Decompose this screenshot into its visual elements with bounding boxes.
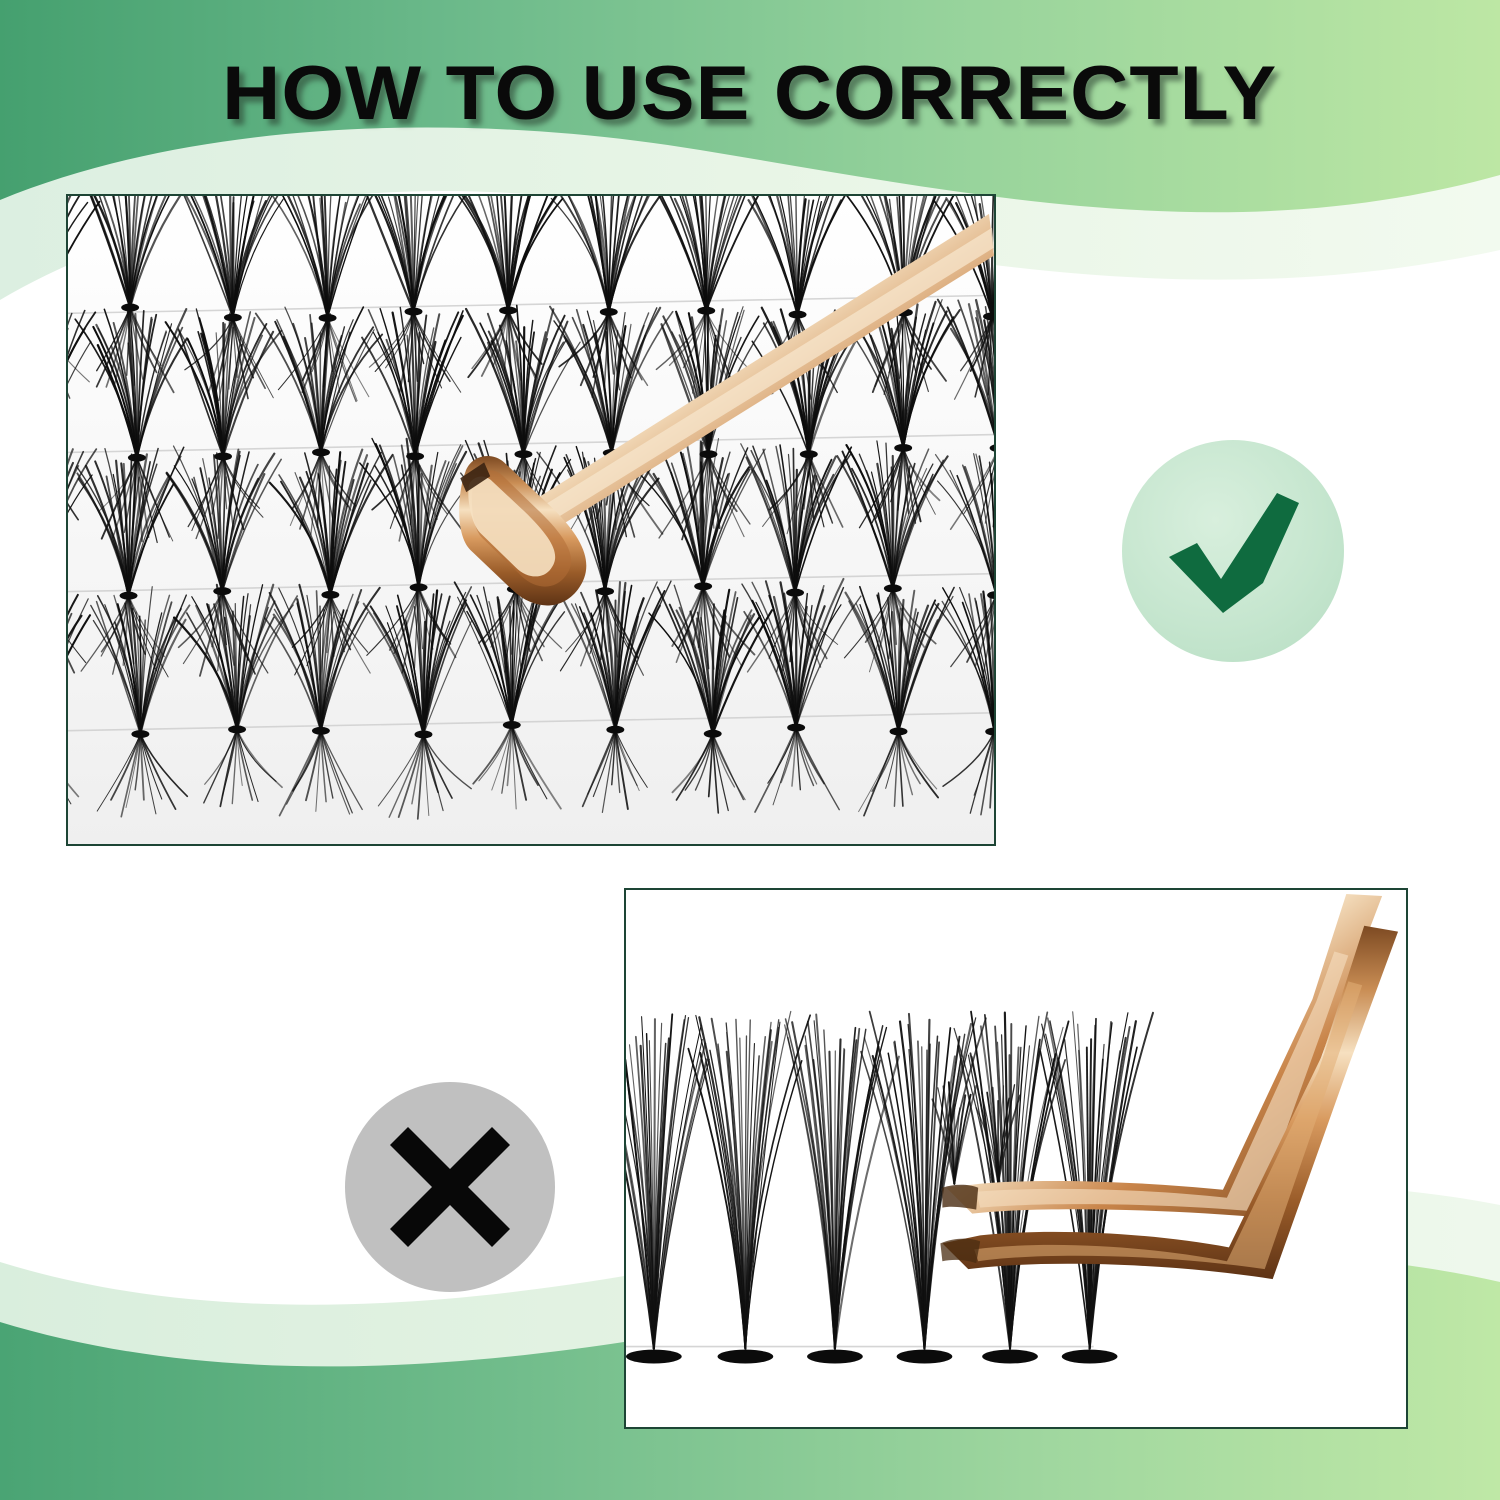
badge-incorrect — [345, 1082, 555, 1292]
lash-cluster-side-view-illustration — [626, 890, 1406, 1427]
photo-correct-method — [66, 194, 996, 846]
lash-tray-top-view-illustration — [68, 196, 994, 844]
photo-incorrect-method — [624, 888, 1408, 1429]
page-title: HOW TO USE CORRECTLY — [222, 52, 1277, 136]
title-container: HOW TO USE CORRECTLY — [0, 52, 1500, 136]
cross-icon — [382, 1119, 518, 1255]
check-icon — [1153, 471, 1313, 631]
infographic-root: HOW TO USE CORRECTLY — [0, 0, 1500, 1500]
badge-correct — [1122, 440, 1344, 662]
